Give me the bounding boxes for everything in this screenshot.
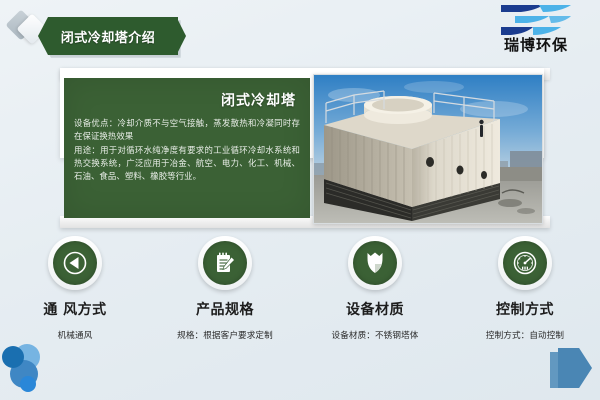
feature-item-material[interactable]: 设备材质 设备材质：不锈钢塔体 xyxy=(300,236,450,356)
company-name: 瑞博环保 xyxy=(480,38,592,53)
slide-canvas: 闭式冷却塔介绍 瑞博环保 闭式冷却塔 设备优点：冷却介质不与空气接触，蒸发散热和… xyxy=(0,0,600,400)
ribo-wave-logo-icon xyxy=(499,4,573,37)
feature-title: 产品规格 xyxy=(196,299,254,319)
feature-subtitle: 规格：根据客户要求定制 xyxy=(177,329,273,341)
blue-circles-decoration-icon xyxy=(0,338,70,400)
feature-icon-ring xyxy=(198,236,252,290)
feature-icon-disc xyxy=(53,241,97,285)
shield-crown-icon xyxy=(362,250,388,276)
page-title: 闭式冷却塔介绍 xyxy=(61,27,156,46)
feature-title: 设备材质 xyxy=(346,299,404,319)
product-photo xyxy=(313,74,543,224)
blue-arrow-decoration-icon xyxy=(550,348,596,394)
feature-subtitle: 控制方式：自动控制 xyxy=(486,329,564,341)
feature-item-control[interactable]: 控制方式 控制方式：自动控制 xyxy=(450,236,600,356)
feature-icon-disc xyxy=(353,241,397,285)
feature-subtitle: 设备材质：不锈钢塔体 xyxy=(332,329,419,341)
feature-icon-ring xyxy=(48,236,102,290)
product-advantage-text: 设备优点：冷却介质不与空气接触，蒸发散热和冷凝同时存在保证换热效果 xyxy=(74,117,300,143)
feature-icon-ring xyxy=(498,236,552,290)
feature-title: 通 风方式 xyxy=(43,299,106,319)
company-logo: 瑞博环保 xyxy=(480,4,592,66)
gauge-meter-icon xyxy=(512,250,538,276)
product-heading: 闭式冷却塔 xyxy=(74,90,296,110)
title-banner: 闭式冷却塔介绍 xyxy=(38,17,178,55)
feature-title: 控制方式 xyxy=(496,299,554,319)
notepad-pencil-icon xyxy=(212,250,238,276)
cooling-tower-photo-illustration xyxy=(314,75,542,223)
feature-list: 通 风方式 机械通风 xyxy=(0,236,600,356)
feature-item-specification[interactable]: 产品规格 规格：根据客户要求定制 xyxy=(150,236,300,356)
feature-icon-disc xyxy=(503,241,547,285)
product-usage-text: 用途：用于对循环水纯净度有要求的工业循环冷却水系统和热交换系统，广泛应用于冶金、… xyxy=(74,144,300,183)
product-info-box: 闭式冷却塔 设备优点：冷却介质不与空气接触，蒸发散热和冷凝同时存在保证换热效果 … xyxy=(64,78,310,218)
ventilation-fan-icon xyxy=(62,250,88,276)
feature-icon-disc xyxy=(203,241,247,285)
feature-icon-ring xyxy=(348,236,402,290)
